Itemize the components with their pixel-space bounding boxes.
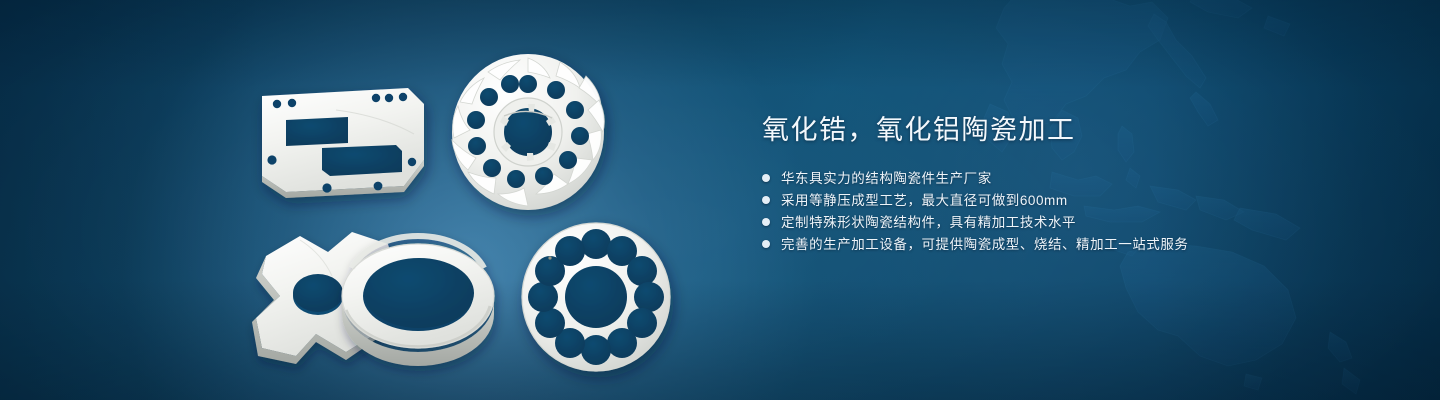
bullet-dot-icon <box>762 196 770 204</box>
list-item: 华东具实力的结构陶瓷件生产厂家 <box>762 168 1322 190</box>
ceramic-machined-plate <box>262 88 424 198</box>
bullet-dot-icon <box>762 174 770 182</box>
list-item: 定制特殊形状陶瓷结构件，具有精加工技术水平 <box>762 212 1322 234</box>
bullet-dot-icon <box>762 240 770 248</box>
ceramic-products-collage <box>0 0 740 400</box>
banner-copy: 氧化锆，氧化铝陶瓷加工 华东具实力的结构陶瓷件生产厂家 采用等静压成型工艺，最大… <box>762 112 1322 256</box>
feature-list: 华东具实力的结构陶瓷件生产厂家 采用等静压成型工艺，最大直径可做到600mm 定… <box>762 168 1322 256</box>
hero-banner: 氧化锆，氧化铝陶瓷加工 华东具实力的结构陶瓷件生产厂家 采用等静压成型工艺，最大… <box>0 0 1440 400</box>
list-item-label: 定制特殊形状陶瓷结构件，具有精加工技术水平 <box>781 212 1076 234</box>
ceramic-ring <box>342 236 494 366</box>
ceramic-perforated-disc <box>522 223 670 371</box>
list-item-label: 采用等静压成型工艺，最大直径可做到600mm <box>781 190 1068 212</box>
list-item: 完善的生产加工设备，可提供陶瓷成型、烧结、精加工一站式服务 <box>762 234 1322 256</box>
bullet-dot-icon <box>762 218 770 226</box>
list-item: 采用等静压成型工艺，最大直径可做到600mm <box>762 190 1322 212</box>
list-item-label: 华东具实力的结构陶瓷件生产厂家 <box>781 168 992 190</box>
ceramic-impeller-disc <box>452 54 604 210</box>
page-title: 氧化锆，氧化铝陶瓷加工 <box>762 112 1322 148</box>
list-item-label: 完善的生产加工设备，可提供陶瓷成型、烧结、精加工一站式服务 <box>781 234 1188 256</box>
